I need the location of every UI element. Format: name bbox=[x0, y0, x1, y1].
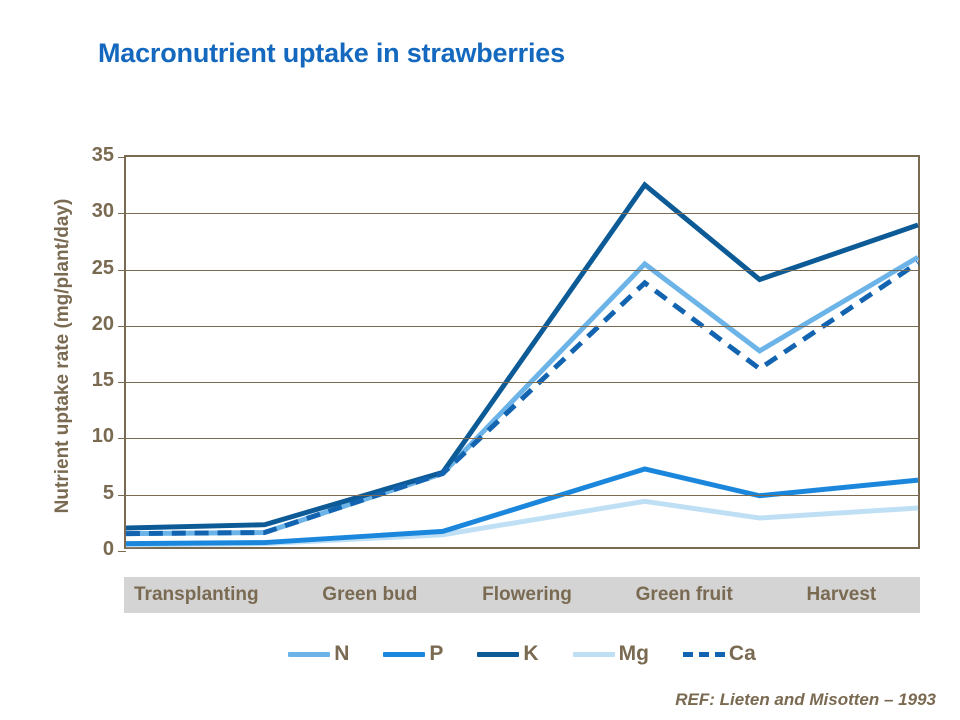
y-tick-mark-0 bbox=[118, 551, 126, 552]
x-axis-category-transplanting: Transplanting bbox=[124, 584, 291, 606]
y-tick-label-0: 0 bbox=[54, 539, 114, 559]
gridline-25 bbox=[126, 270, 918, 271]
page-title: Macronutrient uptake in strawberries bbox=[98, 38, 565, 69]
legend-item-p[interactable]: P bbox=[383, 642, 443, 666]
legend-swatch-k-icon bbox=[477, 652, 519, 657]
x-axis-category-harvest: Harvest bbox=[763, 584, 920, 606]
x-axis-category-flowering: Flowering bbox=[448, 584, 605, 606]
y-tick-mark-30 bbox=[118, 213, 126, 214]
legend-swatch-p-icon bbox=[383, 652, 425, 657]
gridline-15 bbox=[126, 382, 918, 383]
y-tick-label-20: 20 bbox=[54, 314, 114, 334]
legend-label-p: P bbox=[429, 642, 443, 666]
legend-item-n[interactable]: N bbox=[288, 642, 349, 666]
legend-swatch-n-icon bbox=[288, 652, 330, 657]
legend-label-ca: Ca bbox=[729, 642, 756, 666]
x-axis-category-green-bud: Green bud bbox=[291, 584, 448, 606]
y-tick-label-10: 10 bbox=[54, 426, 114, 446]
legend-label-mg: Mg bbox=[619, 642, 649, 666]
chart-legend: NPKMgCa bbox=[124, 637, 920, 671]
x-axis-category-green-fruit: Green fruit bbox=[606, 584, 763, 606]
legend-swatch-mg-icon bbox=[573, 652, 615, 657]
gridline-30 bbox=[126, 213, 918, 214]
y-tick-mark-20 bbox=[118, 326, 126, 327]
y-tick-mark-15 bbox=[118, 382, 126, 383]
y-tick-mark-35 bbox=[118, 157, 126, 158]
y-tick-mark-5 bbox=[118, 495, 126, 496]
gridline-20 bbox=[126, 326, 918, 327]
y-tick-label-35: 35 bbox=[54, 145, 114, 165]
legend-swatch-ca-icon bbox=[683, 652, 725, 657]
y-axis-tick-labels: 05101520253035 bbox=[52, 155, 114, 549]
y-tick-label-15: 15 bbox=[54, 370, 114, 390]
legend-label-n: N bbox=[334, 642, 349, 666]
y-tick-label-25: 25 bbox=[54, 258, 114, 278]
legend-item-k[interactable]: K bbox=[477, 642, 538, 666]
y-tick-label-5: 5 bbox=[54, 483, 114, 503]
gridline-5 bbox=[126, 495, 918, 496]
legend-item-mg[interactable]: Mg bbox=[573, 642, 649, 666]
plot-area bbox=[124, 155, 920, 549]
legend-item-ca[interactable]: Ca bbox=[683, 642, 756, 666]
gridline-10 bbox=[126, 438, 918, 439]
y-tick-mark-25 bbox=[118, 270, 126, 271]
x-axis-category-band: TransplantingGreen budFloweringGreen fru… bbox=[124, 577, 920, 613]
y-tick-mark-10 bbox=[118, 438, 126, 439]
series-line-k bbox=[126, 185, 918, 528]
y-tick-label-30: 30 bbox=[54, 201, 114, 221]
legend-label-k: K bbox=[523, 642, 538, 666]
series-lines bbox=[126, 157, 918, 547]
reference-note: REF: Lieten and Misotten – 1993 bbox=[675, 690, 936, 710]
